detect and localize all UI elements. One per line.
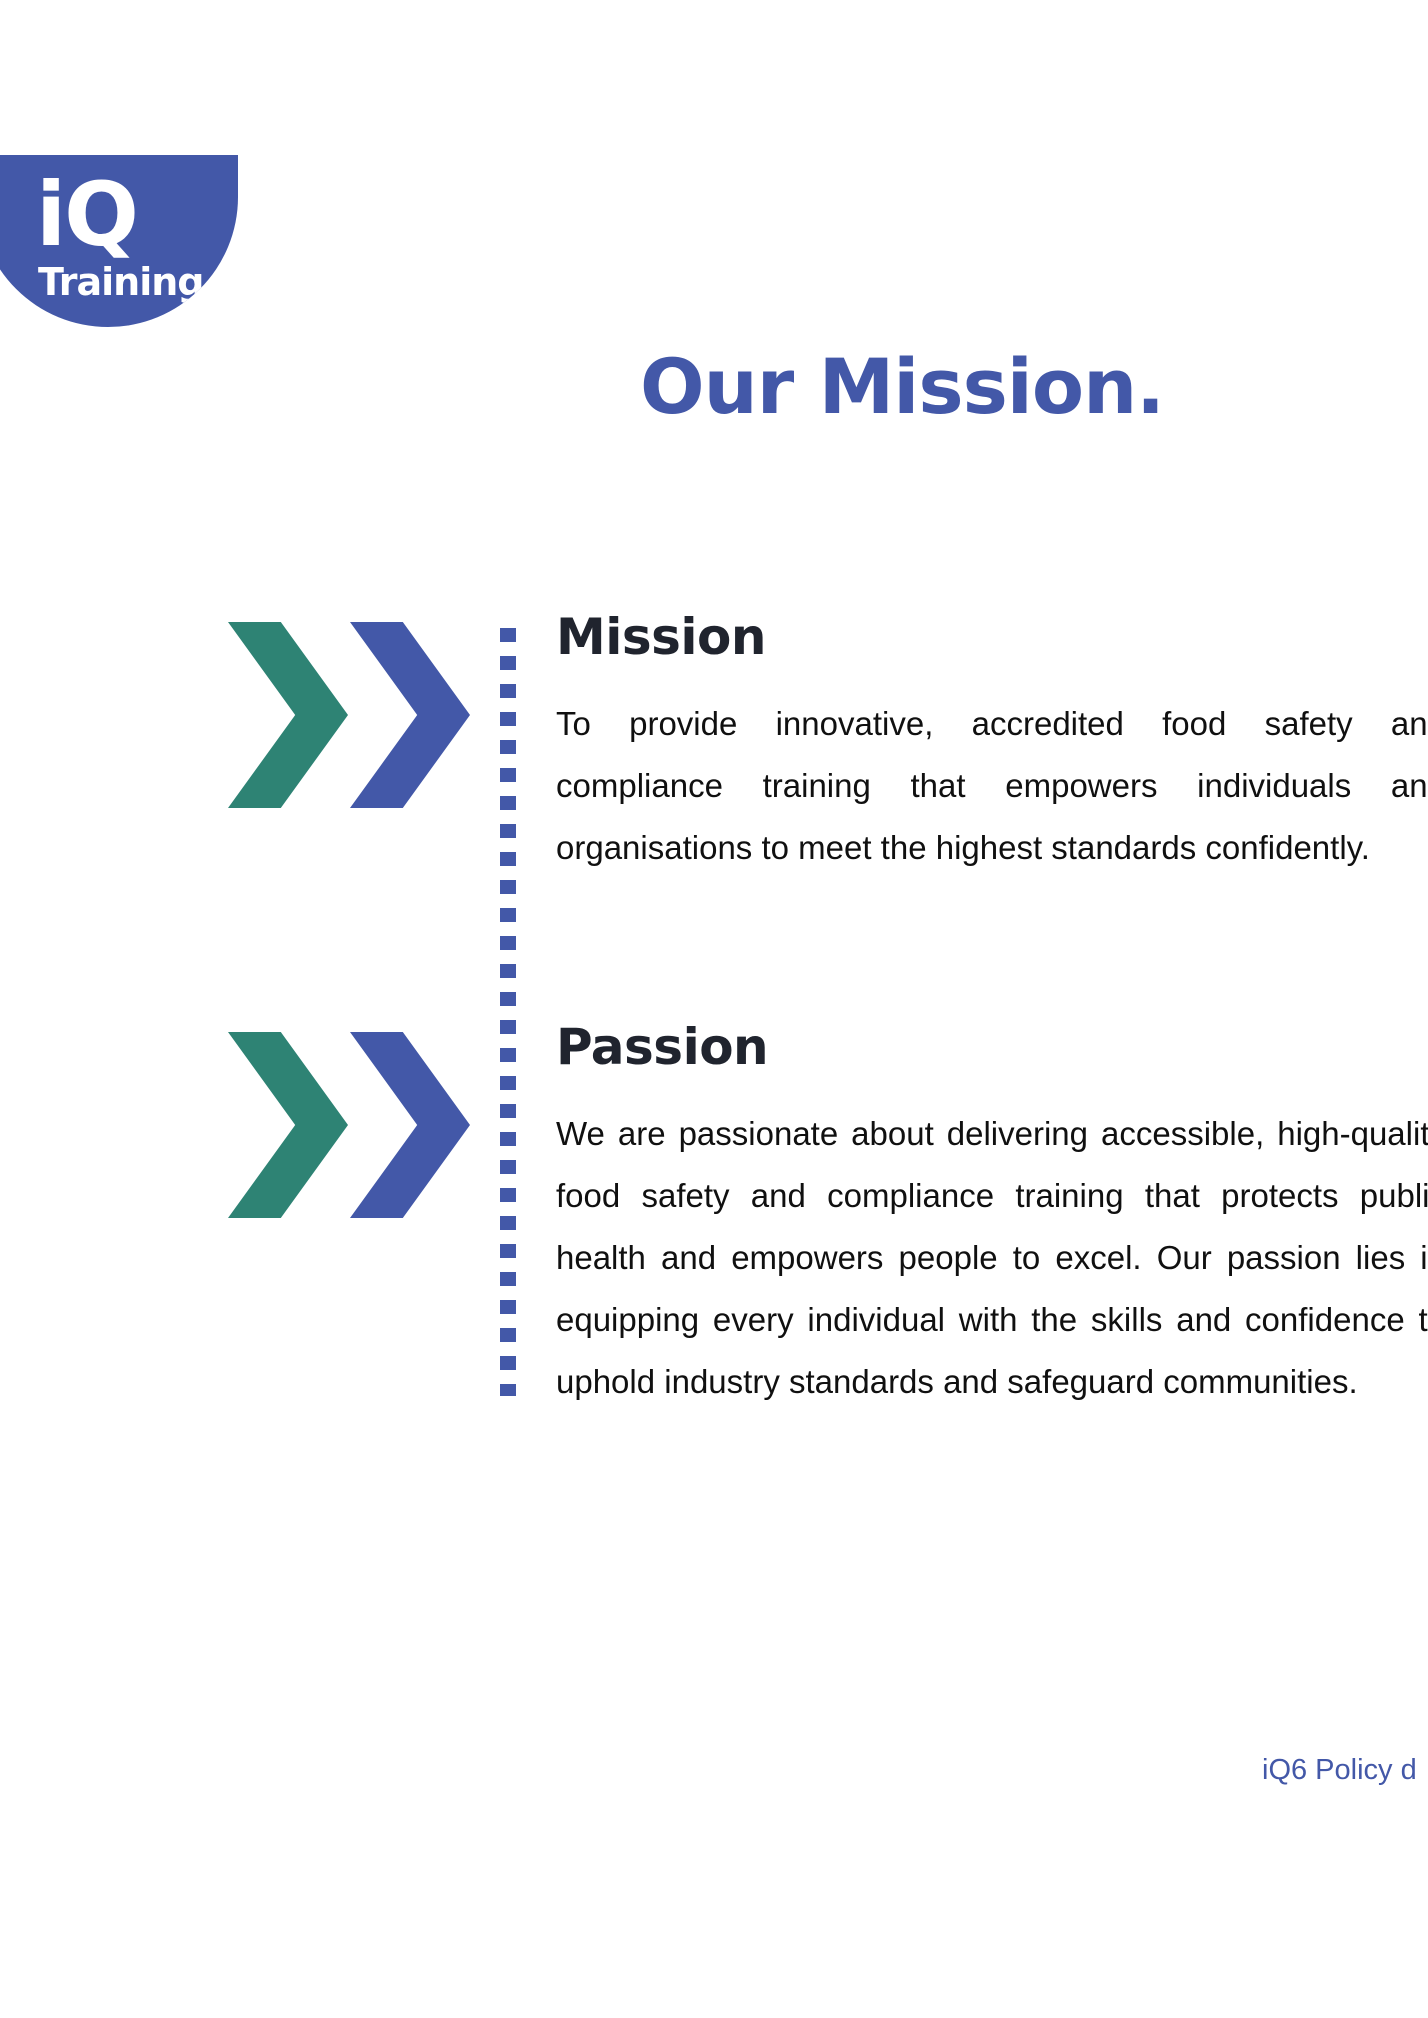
section-passion-body: Passion We are passionate about deliveri… xyxy=(556,1020,1428,1413)
section-mission-heading: Mission xyxy=(556,610,1428,665)
section-mission-body: Mission To provide innovative, accredite… xyxy=(556,610,1428,879)
content-area: Mission To provide innovative, accredite… xyxy=(0,0,1428,2018)
section-mission-chevrons xyxy=(228,622,468,808)
section-passion-heading: Passion xyxy=(556,1020,1428,1075)
section-passion-paragraph: We are passionate about delivering acces… xyxy=(556,1103,1428,1413)
dotted-divider-rail xyxy=(500,628,516,1396)
section-mission-paragraph: To provide innovative, accredited food s… xyxy=(556,693,1428,879)
chevron-right-icon xyxy=(228,622,348,808)
section-passion-chevrons xyxy=(228,1032,468,1218)
footer-policy-note: iQ6 Policy d xyxy=(1262,1753,1417,1788)
slide-page: iQ Training Our Mission. Mission To prov… xyxy=(0,0,1428,2018)
chevron-right-icon xyxy=(350,622,470,808)
chevron-right-icon xyxy=(350,1032,470,1218)
chevron-right-icon xyxy=(228,1032,348,1218)
